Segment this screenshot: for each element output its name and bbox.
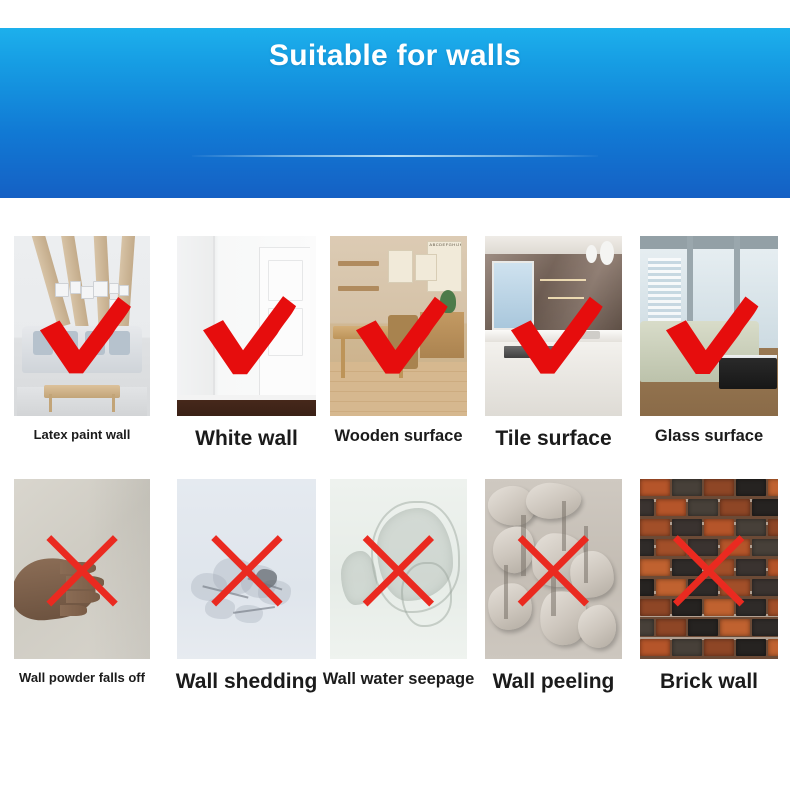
scene-wooden-room: ABCDEFGHIJKLMNOPQRSTUVWXYZ: [330, 236, 467, 416]
surface-thumbnail: [485, 236, 622, 416]
surface-label: Wall shedding: [176, 671, 318, 692]
surface-card[interactable]: Brick wall: [640, 479, 778, 694]
surface-card[interactable]: Glass surface: [640, 236, 778, 451]
scene-wall-peeling: [485, 479, 622, 659]
scene-white-wall: [177, 236, 316, 416]
surface-thumbnail: [177, 236, 316, 416]
surface-thumbnail: [177, 479, 316, 659]
surface-label: Wall powder falls off: [19, 671, 145, 684]
surface-thumbnail: [485, 479, 622, 659]
surface-label: White wall: [195, 428, 298, 449]
scene-tile-kitchen: [485, 236, 622, 416]
surface-thumbnail: [14, 479, 150, 659]
scene-water-seepage: [330, 479, 467, 659]
surface-card[interactable]: White wall: [177, 236, 316, 451]
surface-card[interactable]: Tile surface: [485, 236, 622, 451]
surface-thumbnail: ABCDEFGHIJKLMNOPQRSTUVWXYZ: [330, 236, 467, 416]
surface-thumbnail: [640, 236, 778, 416]
surface-thumbnail: [330, 479, 467, 659]
header-banner: Suitable for walls: [0, 28, 790, 198]
surface-card[interactable]: ABCDEFGHIJKLMNOPQRSTUVWXYZWooden surface: [330, 236, 467, 451]
surface-card[interactable]: Wall water seepage: [330, 479, 467, 694]
surface-label: Wooden surface: [334, 428, 462, 445]
surface-thumbnail: [14, 236, 150, 416]
surface-label: Wall water seepage: [323, 671, 475, 688]
scene-living-room: [14, 236, 150, 416]
surface-label: Latex paint wall: [34, 428, 131, 441]
surface-card[interactable]: Wall powder falls off: [14, 479, 150, 694]
page-title: Suitable for walls: [0, 39, 790, 73]
title-underline-rule: [192, 155, 598, 157]
scene-wall-shedding: [177, 479, 316, 659]
surface-card[interactable]: Wall peeling: [485, 479, 622, 694]
surface-label: Brick wall: [660, 671, 758, 692]
surface-card[interactable]: Wall shedding: [177, 479, 316, 694]
surface-label: Glass surface: [655, 428, 763, 445]
surface-label: Wall peeling: [493, 671, 615, 692]
surface-label: Tile surface: [495, 428, 611, 449]
surface-card[interactable]: Latex paint wall: [14, 236, 150, 451]
surface-thumbnail: [640, 479, 778, 659]
scene-glass-lounge: [640, 236, 778, 416]
scene-brick-wall: [640, 479, 778, 659]
scene-chalky-wall-hand: [14, 479, 150, 659]
